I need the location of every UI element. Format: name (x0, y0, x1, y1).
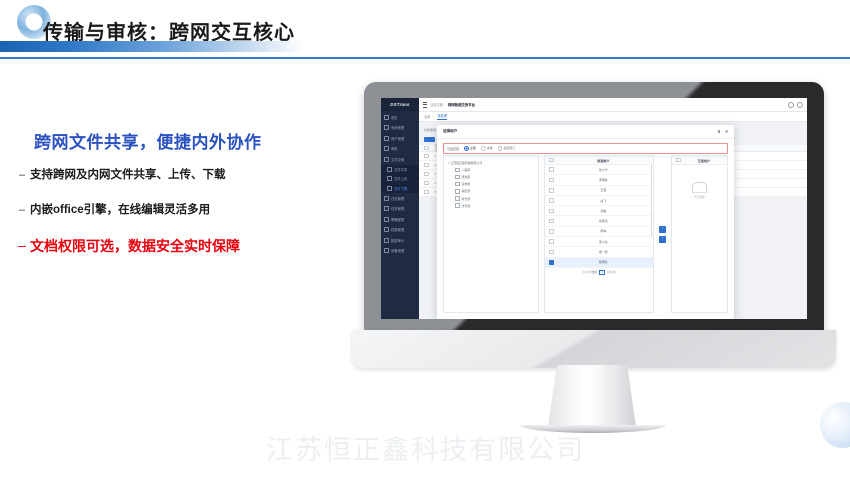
sidebar-item-system[interactable]: 系统管理 › (381, 123, 419, 134)
tree-node[interactable]: 法务部 (455, 203, 534, 208)
move-right-button[interactable]: › (659, 226, 666, 233)
radio-all[interactable]: 全部 (464, 146, 476, 151)
sidebar-item-download[interactable]: 文件下载 (381, 184, 419, 194)
folder-icon (455, 203, 460, 208)
sidebar-item-audit[interactable]: 数据审计 › (381, 235, 419, 246)
monitor-chin (352, 330, 836, 368)
sidebar-item-label: 文件下载 (394, 186, 407, 191)
tree-node-label: 运维部 (462, 182, 471, 186)
select-all-checkbox[interactable] (676, 158, 681, 163)
system-icon (384, 125, 389, 130)
search-icon[interactable] (788, 102, 794, 108)
chevron-right-icon: › (415, 207, 416, 210)
tree-root-label: 江苏恒正鑫科技有限公司 (451, 161, 483, 165)
user-name: 李明秋 (558, 178, 649, 182)
dialog-header: 选择用户 (437, 125, 734, 139)
selected-list-panel: 已选用户 暂无数据 (671, 155, 728, 313)
tab-bar: 全部 待处理 (419, 112, 807, 122)
scope-label: 可选范围 (447, 147, 459, 151)
list-item[interactable]: 孙敏 (545, 206, 653, 216)
chevron-down-icon: ⌄ (414, 158, 416, 161)
row-checkbox[interactable] (424, 190, 429, 195)
radio-label: 本部 (487, 146, 493, 150)
tree-node-label: 人事部 (462, 168, 471, 172)
tree-node[interactable]: 销售部 (455, 189, 534, 194)
sidebar-item-label: 系统管理 (391, 125, 404, 130)
list-item[interactable]: 吴小龙 (545, 237, 653, 247)
sidebar-item-exchange[interactable]: 文件交换 ⌄ (381, 154, 419, 165)
sidebar-item-label: 权限管理 (391, 227, 404, 232)
app-logo: DSTrans (381, 98, 419, 111)
row-checkbox[interactable] (549, 260, 554, 265)
bullet-list: – 支持跨网及内网文件共享、上传、下载 – 内嵌office引擎，在线编辑灵活多… (14, 168, 334, 275)
tree-node-label: 财务部 (462, 197, 471, 201)
add-button[interactable] (424, 137, 435, 143)
dialog-body: 江苏恒正鑫科技有限公司 人事部 研发部 (443, 155, 728, 313)
pagination: 共 10 条数据 1 10条/页 (545, 268, 653, 277)
scrollbar[interactable] (651, 165, 652, 237)
chevron-right-icon: › (415, 228, 416, 231)
select-all-checkbox[interactable] (424, 146, 429, 151)
sidebar-item-approval[interactable]: 审批 › (381, 144, 419, 155)
list-item[interactable]: 李明秋 (545, 175, 653, 185)
section-heading: 跨网文件共享，便捷内外协作 (34, 128, 262, 153)
title-gradient-band (0, 41, 305, 52)
user-name: 刘海涛 (558, 219, 649, 223)
row-checkbox[interactable] (549, 198, 554, 203)
candidate-list-panel: 待选用户 张小宁 李明秋 (544, 155, 654, 313)
user-name: 郑一帆 (558, 250, 649, 254)
watermark: 江苏恒正鑫科技有限公司 (266, 428, 585, 467)
slide-title-bar: 传输与审核：跨网交互核心 (0, 0, 850, 62)
logs-icon (384, 196, 389, 201)
corner-circle-decoration-icon (820, 402, 850, 448)
candidate-list-header: 待选用户 (545, 156, 653, 165)
tree-node-label: 销售部 (462, 189, 471, 193)
user-name: 周琳 (558, 229, 649, 233)
sidebar-item-label: 任务管理 (391, 206, 404, 211)
user-name: 赵飞 (558, 199, 649, 203)
avatar[interactable] (797, 102, 803, 108)
sidebar-item-permissions[interactable]: 权限管理 › (381, 225, 419, 236)
empty-state-text: 暂无数据 (694, 195, 705, 199)
list-item[interactable]: 张小宁 (545, 165, 653, 175)
list-item[interactable]: 刘海涛 (545, 216, 653, 226)
exchange-icon (384, 157, 389, 162)
chevron-right-icon: › (415, 197, 416, 200)
row-checkbox[interactable] (549, 229, 554, 234)
sidebar-item-share[interactable]: 文件共享 (381, 165, 419, 175)
org-tree-panel: 江苏恒正鑫科技有限公司 人事部 研发部 (443, 155, 539, 313)
selected-header-label: 已选用户 (685, 158, 723, 163)
maximize-icon[interactable] (717, 130, 720, 133)
list-item[interactable]: 郑一帆 (545, 247, 653, 257)
breadcrumb-prefix: 当前位置： (430, 102, 446, 107)
radio-local[interactable]: 本部 (481, 146, 493, 151)
list-item[interactable]: 王强 (545, 186, 653, 196)
sidebar-item-label: 文件交换 (391, 157, 404, 162)
sidebar-item-label: 文件上传 (394, 176, 407, 181)
sidebar-item-home[interactable]: 首页 (381, 112, 419, 123)
chevron-right-icon: › (415, 218, 416, 221)
select-all-checkbox[interactable] (549, 158, 554, 163)
folder-icon (455, 196, 460, 201)
sidebar-item-label: 设备管理 (391, 248, 404, 253)
monitor-bezel: DSTrans 首页 系统管理 › (364, 82, 824, 350)
sidebar-item-label: 文件共享 (394, 167, 407, 172)
tree-node[interactable]: 人事部 (455, 168, 534, 173)
tree-node-label: 法务部 (462, 204, 471, 208)
sidebar-item-label: 首页 (391, 115, 398, 120)
sidebar-item-users[interactable]: 用户管理 › (381, 133, 419, 144)
list-item: – 支持跨网及内网文件共享、上传、下载 (14, 168, 334, 183)
tab-pending[interactable]: 待处理 (437, 113, 447, 121)
chevron-right-icon: › (415, 137, 416, 140)
download-icon (387, 186, 392, 191)
sidebar-item-label: 日志管理 (391, 196, 404, 201)
move-left-button[interactable]: ‹ (659, 236, 666, 243)
list-item-selected[interactable]: 陈明哲 (545, 258, 653, 268)
sidebar-item-label: 数据审计 (391, 238, 404, 243)
radio-label: 指定部门 (504, 146, 516, 150)
dialog-title: 选择用户 (443, 129, 457, 134)
menu-toggle-icon[interactable] (423, 102, 427, 108)
user-name: 王强 (558, 188, 649, 192)
share-icon (387, 167, 392, 172)
sidebar-nav: 首页 系统管理 › 用户管理 › (381, 111, 419, 256)
row-checkbox[interactable] (549, 219, 554, 224)
chevron-right-icon: › (415, 147, 416, 150)
tree-node[interactable]: 财务部 (455, 196, 534, 201)
folder-icon (455, 175, 460, 180)
radio-label: 全部 (470, 146, 476, 150)
sidebar-item-label: 策略配置 (391, 217, 404, 222)
bullet-text: 文档权限可选，数据安全实时保障 (30, 238, 240, 255)
row-checkbox[interactable] (549, 178, 554, 183)
transfer-controls: › ‹ (659, 155, 666, 313)
slide-root: 传输与审核：跨网交互核心 跨网文件共享，便捷内外协作 – 支持跨网及内网文件共享… (0, 0, 850, 480)
tree-node[interactable]: 运维部 (455, 182, 534, 187)
title-divider (0, 57, 850, 59)
bullet-dash: – (14, 238, 30, 253)
list-item[interactable]: 赵飞 (545, 196, 653, 206)
chevron-right-icon: › (415, 126, 416, 129)
row-checkbox[interactable] (549, 250, 554, 255)
sidebar-subgroup: 文件共享 文件上传 文件下载 (381, 165, 419, 194)
users-icon (384, 136, 389, 141)
list-item[interactable]: 周琳 (545, 227, 653, 237)
bullet-text: 内嵌office引擎，在线编辑灵活多用 (30, 203, 210, 218)
row-checkbox[interactable] (424, 181, 429, 186)
audit-icon (384, 238, 389, 243)
pagination-current-page[interactable]: 1 (599, 270, 605, 276)
approval-icon (384, 146, 389, 151)
sidebar-item-tasks[interactable]: 任务管理 › (381, 204, 419, 215)
tab-all[interactable]: 全部 (424, 114, 430, 119)
chevron-right-icon[interactable] (448, 162, 449, 164)
sidebar-item-devices[interactable]: 设备管理 › (381, 246, 419, 257)
user-name: 孙敏 (558, 209, 649, 213)
tree-node[interactable]: 研发部 (455, 175, 534, 180)
user-name: 张小宁 (558, 168, 649, 172)
scope-radio-group: 可选范围 全部 本部 指定部门 (443, 143, 728, 154)
row-checkbox[interactable] (549, 209, 554, 214)
user-name: 陈明哲 (558, 260, 649, 264)
chevron-right-icon: › (415, 239, 416, 242)
selected-list-header: 已选用户 (672, 156, 727, 165)
policy-icon (384, 217, 389, 222)
permissions-icon (384, 227, 389, 232)
empty-state: 暂无数据 (672, 182, 727, 199)
row-checkbox[interactable] (424, 172, 429, 177)
sidebar-item-policy[interactable]: 策略配置 › (381, 214, 419, 225)
folder-icon (455, 189, 460, 194)
filter-label: 文件名称 (424, 128, 436, 132)
row-checkbox[interactable] (549, 167, 554, 172)
app-topbar: 当前位置： 跨网数据交换平台 (419, 98, 807, 112)
upload-icon (387, 176, 392, 181)
row-checkbox[interactable] (424, 154, 429, 159)
sidebar-item-label: 审批 (391, 146, 398, 151)
folder-icon (455, 168, 460, 173)
monitor-screen: DSTrans 首页 系统管理 › (381, 98, 807, 319)
breadcrumb-current: 跨网数据交换平台 (448, 102, 475, 107)
devices-icon (384, 248, 389, 253)
list-item-highlighted: – 文档权限可选，数据安全实时保障 (14, 238, 334, 255)
bullet-dash: – (14, 168, 30, 183)
pagination-total: 共 10 条数据 (582, 270, 597, 274)
app-window: DSTrans 首页 系统管理 › (381, 98, 807, 319)
row-checkbox[interactable] (549, 188, 554, 193)
tree-root-node[interactable]: 江苏恒正鑫科技有限公司 (448, 161, 534, 165)
radio-dot-icon (464, 146, 469, 151)
radio-dot-icon (481, 146, 486, 151)
chevron-right-icon: › (415, 249, 416, 252)
radio-dot-icon (498, 146, 503, 151)
sidebar-item-upload[interactable]: 文件上传 (381, 174, 419, 184)
folder-icon (455, 182, 460, 187)
select-user-dialog: 选择用户 可选范围 全部 (437, 125, 734, 319)
home-icon (384, 115, 389, 120)
bullet-dash: – (14, 203, 30, 218)
empty-box-icon (692, 182, 707, 193)
sidebar-item-logs[interactable]: 日志管理 › (381, 193, 419, 204)
tasks-icon (384, 206, 389, 211)
close-icon[interactable] (725, 130, 728, 133)
list-item: – 内嵌office引擎，在线编辑灵活多用 (14, 203, 334, 218)
radio-department[interactable]: 指定部门 (498, 146, 516, 151)
candidate-header-label: 待选用户 (558, 158, 649, 163)
monitor-stand-neck (548, 365, 636, 427)
row-checkbox[interactable] (549, 239, 554, 244)
tree-node-label: 研发部 (462, 175, 471, 179)
bullet-text: 支持跨网及内网文件共享、上传、下载 (30, 168, 226, 183)
sidebar-item-label: 用户管理 (391, 136, 404, 141)
pagination-per-page[interactable]: 10条/页 (607, 270, 616, 274)
user-name: 吴小龙 (558, 240, 649, 244)
monitor-mockup: DSTrans 首页 系统管理 › (352, 82, 836, 382)
row-checkbox[interactable] (424, 163, 429, 168)
app-sidebar: DSTrans 首页 系统管理 › (381, 98, 419, 319)
